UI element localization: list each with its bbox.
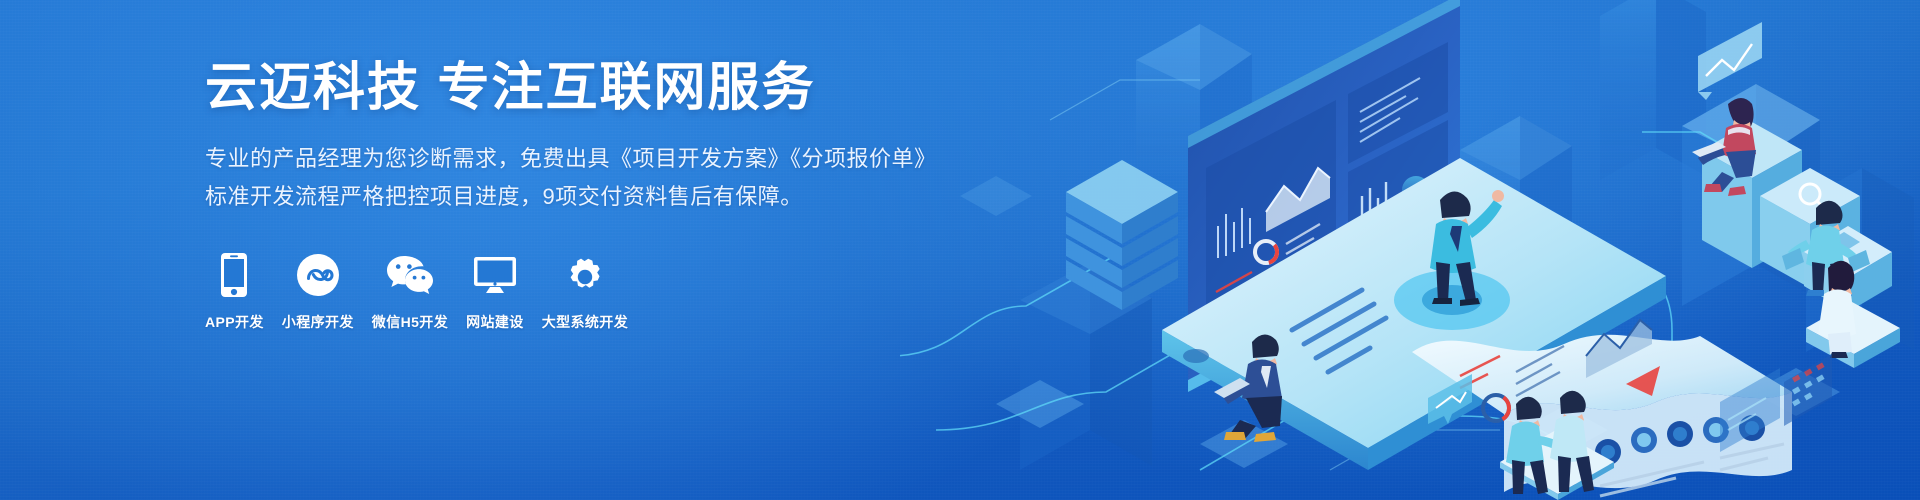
isometric-data-analytics-illustration	[900, 0, 1920, 500]
mobile-phone-icon	[219, 252, 249, 298]
service-label-website: 网站建设	[466, 312, 524, 332]
service-label-app: APP开发	[205, 312, 264, 332]
service-item-wechat[interactable]: 微信H5开发	[372, 252, 448, 332]
service-item-large-system[interactable]: 大型系统开发	[542, 252, 628, 332]
wechat-icon	[384, 252, 436, 298]
service-item-mini-program[interactable]: 小程序开发	[282, 252, 354, 332]
service-label-mini-program: 小程序开发	[282, 312, 354, 332]
service-item-website[interactable]: 网站建设	[466, 252, 524, 332]
hero-banner: 云迈科技 专注互联网服务 专业的产品经理为您诊断需求，免费出具《项目开发方案》《…	[0, 0, 1920, 500]
service-list: APP开发 小程序开发	[205, 252, 905, 332]
mini-program-icon	[296, 252, 340, 298]
monitor-icon	[472, 252, 518, 298]
service-item-app[interactable]: APP开发	[205, 252, 264, 332]
service-label-wechat: 微信H5开发	[372, 312, 448, 332]
gear-icon	[562, 252, 608, 298]
banner-copy: 云迈科技 专注互联网服务 专业的产品经理为您诊断需求，免费出具《项目开发方案》《…	[205, 60, 905, 332]
page-title: 云迈科技 专注互联网服务	[205, 60, 905, 116]
service-label-large-system: 大型系统开发	[542, 312, 628, 332]
subtitle-line-1: 专业的产品经理为您诊断需求，免费出具《项目开发方案》《分项报价单》	[205, 142, 905, 176]
subtitle-line-2: 标准开发流程严格把控项目进度，9项交付资料售后有保障。	[205, 180, 905, 214]
